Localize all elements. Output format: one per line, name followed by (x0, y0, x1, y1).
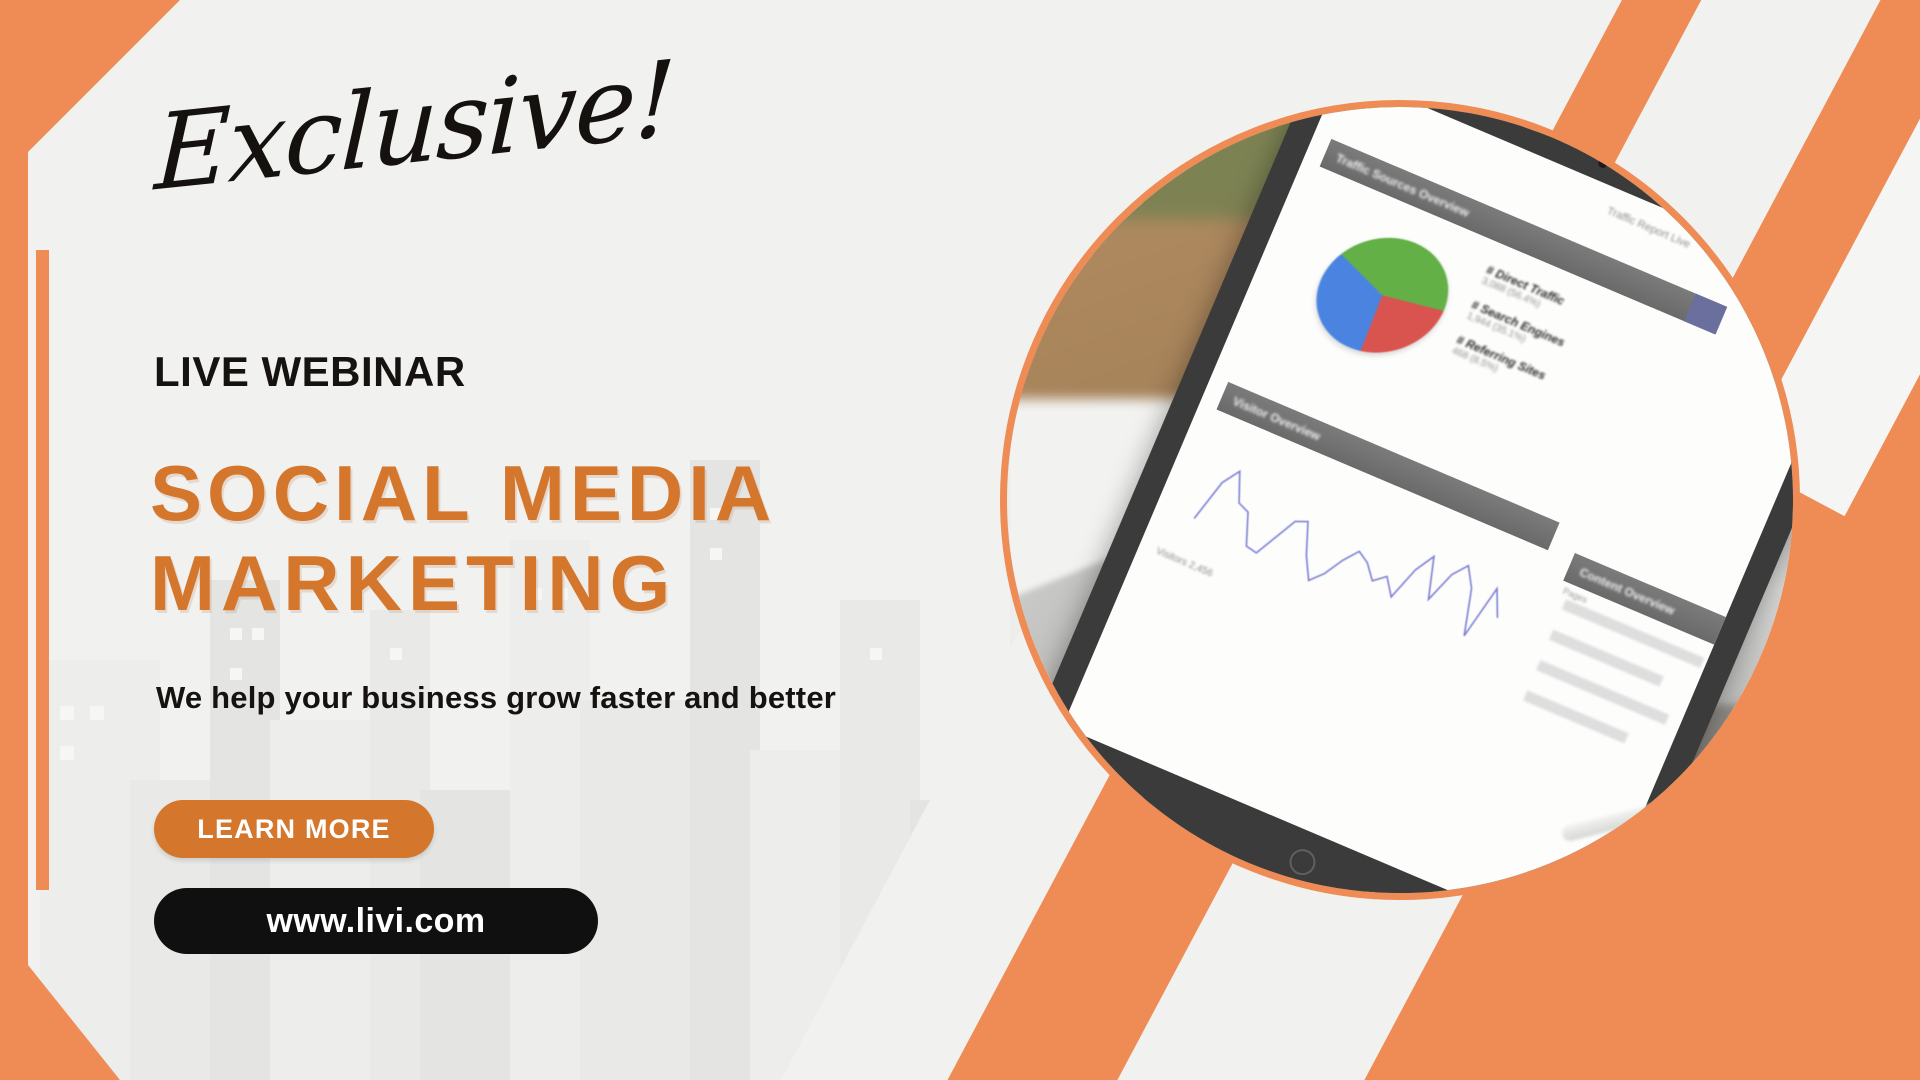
panel-title-traffic-sources: Traffic Sources Overview (1334, 151, 1471, 220)
website-url-label: www.livi.com (267, 902, 486, 941)
orange-corner-bottom-left (0, 930, 120, 1080)
banner-canvas: Traffic Report Live Traffic Sources Over… (0, 0, 1920, 1080)
stylus-pen-tip (1761, 817, 1777, 833)
circular-photo-frame: Traffic Report Live Traffic Sources Over… (1000, 100, 1800, 900)
promo-text-column: Exclusive! LIVE WEBINAR SOCIAL MEDIA MAR… (150, 0, 910, 1080)
learn-more-label: LEARN MORE (197, 814, 391, 845)
tablet-analytics-photo: Traffic Report Live Traffic Sources Over… (1000, 100, 1800, 900)
orange-accent-bar-left (36, 250, 49, 890)
website-url-button[interactable]: www.livi.com (154, 888, 598, 954)
line-chart-svg (1176, 445, 1523, 675)
headline-line-2: MARKETING (150, 538, 910, 628)
event-type-kicker: LIVE WEBINAR (154, 348, 466, 396)
tagline-text: We help your business grow faster and be… (156, 680, 836, 716)
headline-line-1: SOCIAL MEDIA (150, 448, 910, 538)
panel-title-visitor-overview: Visitor Overview (1231, 394, 1323, 444)
line-chart-visitors (1176, 445, 1523, 675)
exclusive-script-heading: Exclusive! (153, 37, 676, 215)
panel-accent-square (1684, 294, 1727, 335)
page-title: SOCIAL MEDIA MARKETING (150, 448, 910, 629)
pie-chart-traffic-sources (1303, 231, 1462, 360)
learn-more-button[interactable]: LEARN MORE (154, 800, 434, 858)
orange-edge-strip-left (0, 0, 28, 1080)
